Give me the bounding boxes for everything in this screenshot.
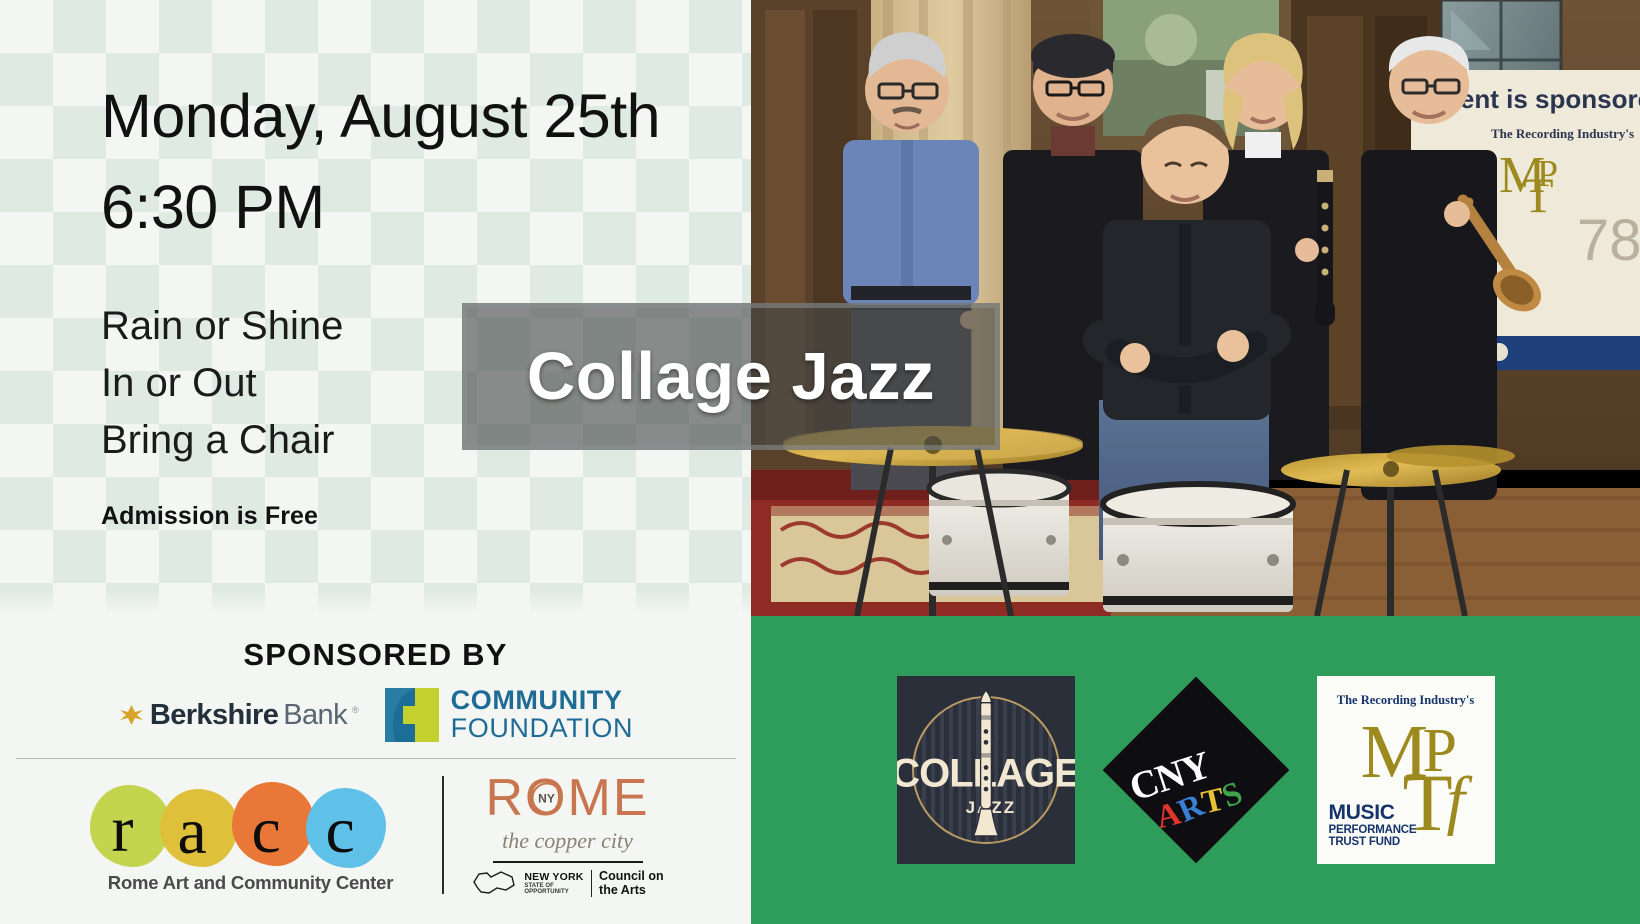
mptf-name-block: MUSIC PERFORMANCE TRUST FUND: [1329, 802, 1417, 848]
event-poster: Monday, August 25th 6:30 PM Rain or Shin…: [0, 0, 1640, 924]
berkshire-star-icon: [118, 702, 145, 728]
berkshire-bank-logo: Berkshire Bank ®: [118, 699, 359, 732]
collage-jazz-logo: COLLAGE JAZZ: [897, 676, 1075, 864]
community-foundation-line1: COMMUNITY: [451, 687, 634, 715]
nysca-council-text: Council on the Arts: [599, 869, 664, 897]
rome-wordmark: ROME NY: [470, 772, 666, 825]
mptf-name-line1: MUSIC: [1329, 802, 1417, 824]
rome-letters-me: ME: [568, 769, 650, 827]
racc-blob-letters: r a c c: [86, 777, 416, 870]
rome-ny-badge: NY: [531, 783, 562, 814]
nysca-state-line3: OPPORTUNITY: [524, 889, 583, 895]
nysca-state-line1: NEW YORK: [524, 872, 583, 883]
svg-text:The Recording Industry's: The Recording Industry's: [1491, 126, 1634, 141]
sponsor-logo-row-secondary: r a c c Rome Art and Community Center RO…: [0, 771, 751, 899]
admission-note: Admission is Free: [101, 502, 318, 531]
sponsor-vertical-separator: [442, 776, 444, 894]
community-foundation-line2: FOUNDATION: [451, 715, 634, 743]
event-headline: Monday, August 25th 6:30 PM: [101, 86, 701, 238]
mptf-logo: The Recording Industry's M P T f MUSIC P…: [1317, 676, 1495, 864]
berkshire-wordmark-bold: Berkshire: [150, 699, 278, 732]
nysca-council-line1: Council on: [599, 869, 664, 883]
rome-letter-r: R: [485, 769, 525, 827]
sponsored-by-heading: SPONSORED BY: [0, 637, 751, 673]
racc-logo: r a c c Rome Art and Community Center: [86, 777, 416, 894]
svg-text:T: T: [1523, 167, 1554, 223]
sponsors-divider: [16, 758, 736, 759]
cny-arts-text-group: CNY ARTS: [1107, 676, 1285, 864]
sponsor-logo-row-primary: Berkshire Bank ® COMMUNITY FOUNDATION: [0, 687, 751, 743]
sponsors-section: SPONSORED BY Berkshire Bank ®: [0, 616, 751, 924]
cny-arts-logo: CNY ARTS: [1107, 676, 1285, 864]
mptf-monogram-f: f: [1447, 768, 1465, 834]
mptf-name-line3: TRUST FUND: [1329, 836, 1417, 848]
nysca-separator: [591, 870, 593, 897]
partner-logos-panel: COLLAGE JAZZ: [751, 616, 1640, 924]
rome-copper-city-logo: ROME NY the copper city NEW YORK STATE O…: [470, 772, 666, 899]
band-name-text: Collage Jazz: [527, 338, 935, 415]
racc-letter-c1: c: [252, 798, 281, 864]
rome-rule: [493, 861, 643, 864]
racc-letter-r: r: [112, 797, 134, 863]
svg-text:78: 78: [1577, 208, 1640, 273]
nysca-council-line2: the Arts: [599, 883, 664, 897]
berkshire-wordmark-light: Bank: [283, 699, 347, 732]
nysca-logo: NEW YORK STATE OF OPPORTUNITY Council on…: [470, 868, 666, 898]
nysca-state-text: NEW YORK STATE OF OPPORTUNITY: [524, 872, 583, 895]
event-time: 6:30 PM: [101, 177, 701, 238]
mptf-name-line2: PERFORMANCE: [1329, 824, 1417, 836]
community-foundation-wordmark: COMMUNITY FOUNDATION: [451, 687, 634, 742]
racc-caption: Rome Art and Community Center: [86, 872, 416, 894]
community-foundation-logo: COMMUNITY FOUNDATION: [385, 687, 634, 742]
band-name-banner: Collage Jazz: [462, 303, 1000, 450]
rome-tagline: the copper city: [470, 828, 666, 854]
racc-letter-c2: c: [326, 798, 355, 864]
racc-letter-a1: a: [178, 799, 207, 865]
berkshire-registered-mark: ®: [352, 705, 359, 715]
mptf-tagline: The Recording Industry's: [1317, 693, 1495, 708]
clarinet-icon: [968, 680, 1004, 861]
community-foundation-mark-icon: [385, 688, 439, 742]
new-york-state-map-icon: [471, 868, 517, 898]
event-date: Monday, August 25th: [101, 86, 701, 147]
